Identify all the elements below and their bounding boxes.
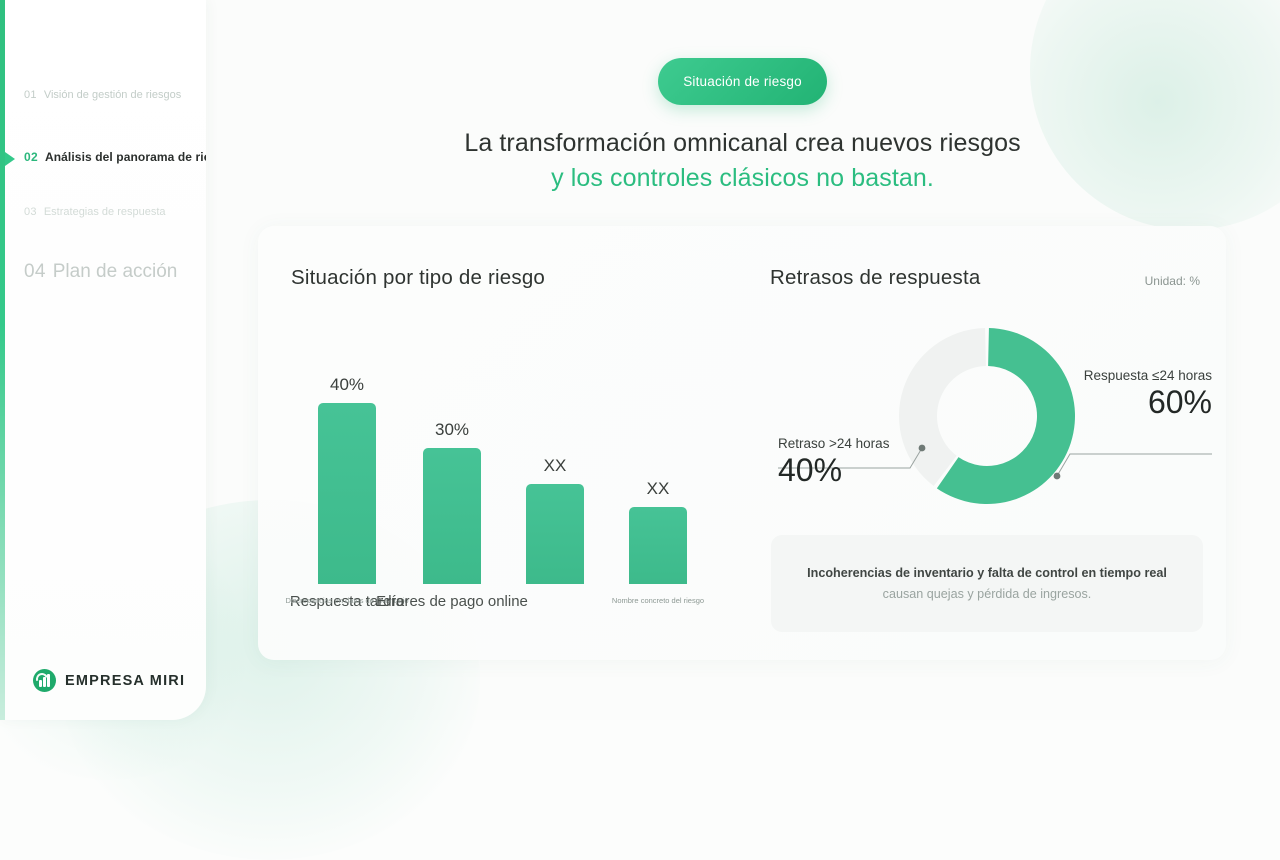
sidebar-item-label: Visión de gestión de riesgos	[44, 89, 181, 101]
sidebar-accent-bar	[0, 0, 5, 720]
bar	[526, 484, 584, 584]
bar-chart-logo-icon	[33, 669, 56, 692]
insight-note: Incoherencias de inventario y falta de c…	[771, 535, 1203, 632]
bar	[629, 507, 687, 584]
sidebar-item-plan[interactable]: 04 Plan de acción	[24, 261, 177, 283]
donut-callout-value: 40%	[778, 451, 928, 489]
bar-value-label: XX	[544, 456, 567, 476]
bar-subcategory-label: Nombre concreto del riesgo	[612, 596, 704, 605]
donut-callout-label: Retraso >24 horas	[778, 436, 928, 451]
donut-leader-line	[1054, 454, 1212, 479]
sidebar-item-label: Análisis del panorama de riesgos	[45, 150, 206, 164]
insight-note-rest: causan quejas y pérdida de ingresos.	[883, 587, 1092, 601]
bar-value-label: XX	[647, 479, 670, 499]
bar-chart-panel: Situación por tipo de riesgo 40%Respuest…	[291, 266, 721, 636]
sidebar-item-number: 01	[24, 89, 37, 101]
bar-chart-title: Situación por tipo de riesgo	[291, 266, 721, 290]
page-title: La transformación omnicanal crea nuevos …	[260, 126, 1225, 196]
headline-line-1: La transformación omnicanal crea nuevos …	[260, 126, 1225, 161]
donut-callout-value: 60%	[1070, 383, 1212, 421]
brand-name: EMPRESA MIRI	[65, 673, 185, 689]
donut-chart-plot: Respuesta ≤24 horas60%Retraso >24 horas4…	[770, 308, 1212, 538]
sidebar-item-label: Plan de acción	[53, 261, 178, 283]
donut-callout-right: Respuesta ≤24 horas60%	[1070, 368, 1212, 421]
sidebar-item-number: 02	[24, 150, 38, 164]
sidebar-item-number: 04	[24, 261, 46, 283]
bar-value-label: 40%	[330, 375, 364, 395]
brand-logo: EMPRESA MIRI	[33, 669, 185, 692]
sidebar: 01 Visión de gestión de riesgos 02 Análi…	[0, 0, 206, 720]
sidebar-item-label: Estrategias de respuesta	[44, 206, 166, 218]
bar	[318, 403, 376, 584]
sidebar-item-vision[interactable]: 01 Visión de gestión de riesgos	[24, 89, 181, 101]
bar-group: XXNombre concreto del riesgo	[629, 507, 687, 584]
bar-value-label: 30%	[435, 420, 469, 440]
bar-chart-plot: 40%Respuesta tardíaDiscrepancias en dato…	[291, 316, 721, 628]
bar-group: XX	[526, 484, 584, 584]
bar-category-label: Errores de pago online	[376, 593, 528, 610]
sidebar-item-estrategias[interactable]: 03 Estrategias de respuesta	[24, 206, 166, 218]
donut-svg	[770, 308, 1212, 538]
section-badge-label: Situación de riesgo	[683, 74, 802, 89]
bar	[423, 448, 481, 584]
slide-stage: 01 Visión de gestión de riesgos 02 Análi…	[0, 0, 1280, 720]
sidebar-item-number: 03	[24, 206, 37, 218]
active-item-marker-icon	[5, 152, 15, 166]
donut-unit-label: Unidad: %	[1145, 274, 1200, 288]
bar-group: 40%Respuesta tardíaDiscrepancias en dato…	[318, 403, 376, 584]
donut-callout-label: Respuesta ≤24 horas	[1070, 368, 1212, 383]
sidebar-item-analisis[interactable]: 02 Análisis del panorama de riesgos	[24, 150, 206, 164]
bar-group: 30%Errores de pago online	[423, 448, 481, 584]
headline-line-2: y los controles clásicos no bastan.	[260, 161, 1225, 196]
donut-callout-left: Retraso >24 horas40%	[778, 436, 928, 489]
insight-note-strong: Incoherencias de inventario y falta de c…	[807, 566, 1167, 580]
section-badge: Situación de riesgo	[658, 58, 827, 105]
